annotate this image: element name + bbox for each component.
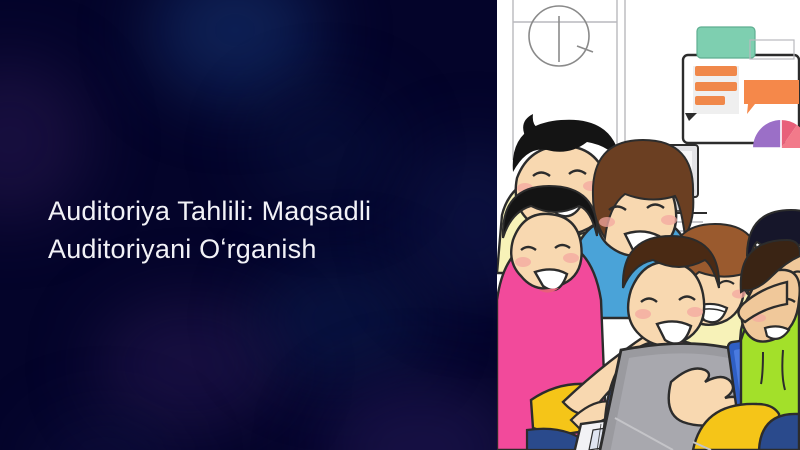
teal-card: [697, 27, 755, 58]
background-glow-blob: [320, 380, 497, 450]
slide-canvas: Auditoriya Tahlili: Maqsadli Auditoriyan…: [0, 0, 800, 450]
background-glow-blob: [255, 260, 425, 380]
background-glow-blob: [95, 300, 285, 430]
background-glow-blob: [150, 0, 320, 100]
page-title: Auditoriya Tahlili: Maqsadli Auditoriyan…: [48, 192, 448, 268]
background-glow-blob: [30, 415, 180, 450]
students-group-with-tablet-illustration: [497, 0, 800, 450]
title-panel: Auditoriya Tahlili: Maqsadli Auditoriyan…: [0, 0, 497, 450]
title-line-1: Auditoriya Tahlili: Maqsadli: [48, 192, 448, 230]
title-line-2: Auditoriyani Oʻrganish: [48, 230, 448, 268]
